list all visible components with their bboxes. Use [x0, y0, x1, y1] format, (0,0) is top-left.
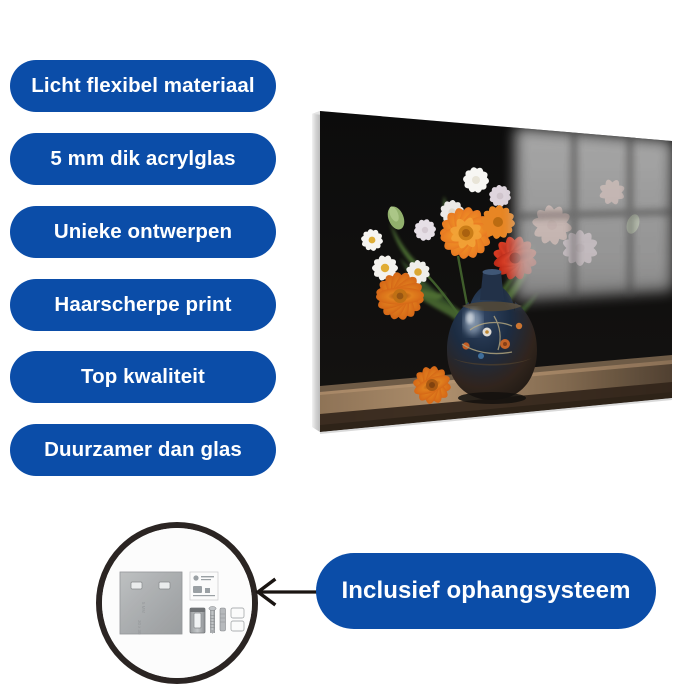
- orange-gerbera-small-top: [480, 204, 516, 240]
- hanging-kit-circle: 5 MM 30 x 30: [96, 522, 258, 684]
- feature-pill-unieke-ontwerpen[interactable]: Unieke ontwerpen: [10, 206, 276, 258]
- feature-pill-label: Unieke ontwerpen: [54, 222, 232, 243]
- hanging-kit-photo: 5 MM 30 x 30: [102, 528, 252, 678]
- green-buds: [385, 204, 642, 235]
- feature-pill-label: Top kwaliteit: [81, 367, 205, 388]
- foliage: [390, 196, 538, 336]
- callout-pill-label: Inclusief ophangsysteem: [341, 579, 630, 603]
- wooden-ledge: [320, 360, 672, 425]
- panel-artwork: [310, 100, 680, 445]
- feature-pill-top-kwaliteit[interactable]: Top kwaliteit: [10, 351, 276, 403]
- panel-edge-bottom: [320, 398, 672, 434]
- white-daisies: [360, 166, 512, 285]
- feature-pill-5-mm-dik-acrylglas[interactable]: 5 mm dik acrylglas: [10, 133, 276, 185]
- feature-pill-duurzamer-dan-glas[interactable]: Duurzamer dan glas: [10, 424, 276, 476]
- wall-bracket: [190, 608, 205, 633]
- ornate-vase: [447, 269, 537, 404]
- feature-pill-label: Licht flexibel materiaal: [31, 76, 254, 97]
- feature-pill-label: 5 mm dik acrylglas: [50, 149, 235, 170]
- wall-plug: [220, 608, 226, 631]
- panel-edge-top: [312, 111, 672, 143]
- orange-gerbera-top: [439, 205, 494, 260]
- fallen-gerbera: [412, 365, 498, 405]
- orange-gerbera-left: [375, 271, 426, 322]
- pink-blooms: [531, 178, 626, 266]
- window-reflection: [516, 128, 672, 300]
- feature-pill-label: Duurzamer dan glas: [44, 440, 242, 461]
- instruction-sheet: [190, 572, 218, 600]
- feature-pill-licht-flexibel-materiaal[interactable]: Licht flexibel materiaal: [10, 60, 276, 112]
- product-feature-graphic: Licht flexibel materiaal 5 mm dik acrylg…: [0, 0, 700, 700]
- mounting-plate: 5 MM 30 x 30: [120, 572, 182, 635]
- feature-pill-haarscherpe-print[interactable]: Haarscherpe print: [10, 279, 276, 331]
- callout-pill-inclusief-ophangsysteem[interactable]: Inclusief ophangsysteem: [316, 553, 656, 629]
- feature-pill-label: Haarscherpe print: [54, 295, 231, 316]
- red-flower: [492, 235, 538, 281]
- panel-edge-left: [312, 111, 320, 432]
